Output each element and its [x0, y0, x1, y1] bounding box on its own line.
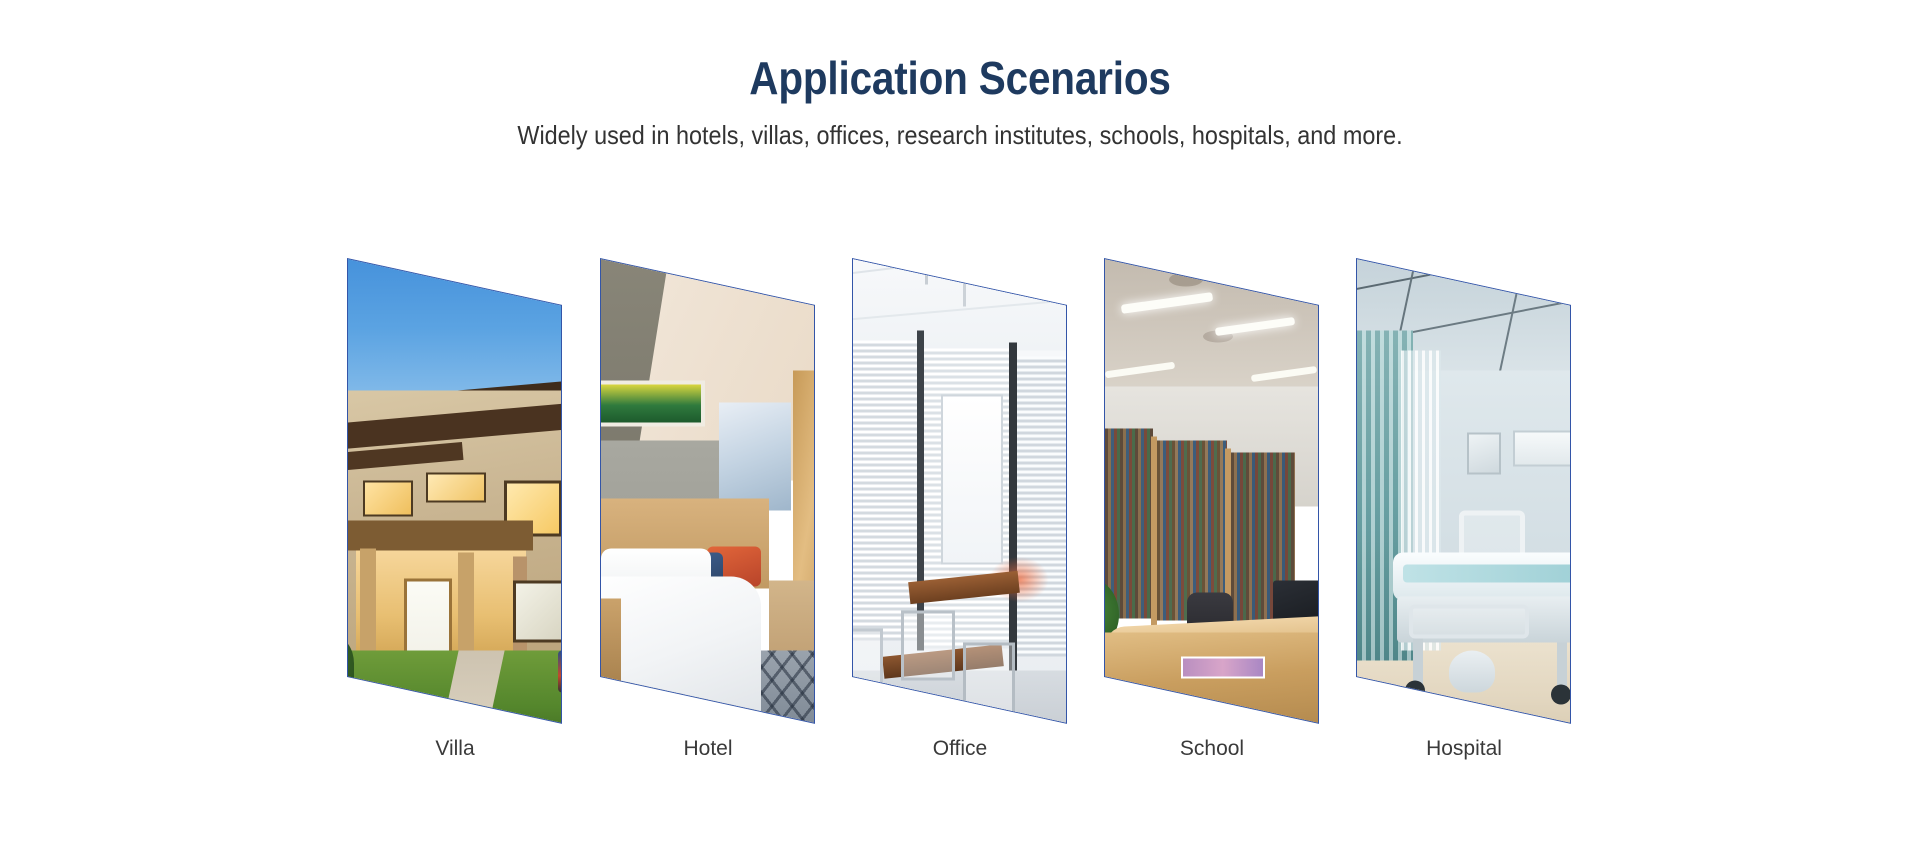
application-scenarios-section: Application Scenarios Widely used in hot…: [0, 0, 1920, 856]
scenario-card-row: Villa Hotel: [0, 0, 1920, 856]
villa-photo: [347, 258, 562, 724]
scenario-card-villa[interactable]: [347, 258, 562, 724]
scenario-label-villa: Villa: [325, 738, 585, 759]
scenario-label-hotel: Hotel: [578, 738, 838, 759]
scenario-label-office: Office: [830, 738, 1090, 759]
hospital-photo: [1356, 258, 1571, 724]
scenario-card-hotel[interactable]: [600, 258, 815, 724]
hotel-photo: [600, 258, 815, 724]
scenario-card-office[interactable]: [852, 258, 1067, 724]
office-photo: [852, 258, 1067, 724]
scenario-label-school: School: [1082, 738, 1342, 759]
school-photo: [1104, 258, 1319, 724]
scenario-card-hospital[interactable]: [1356, 258, 1571, 724]
scenario-label-hospital: Hospital: [1334, 738, 1594, 759]
scenario-card-school[interactable]: [1104, 258, 1319, 724]
